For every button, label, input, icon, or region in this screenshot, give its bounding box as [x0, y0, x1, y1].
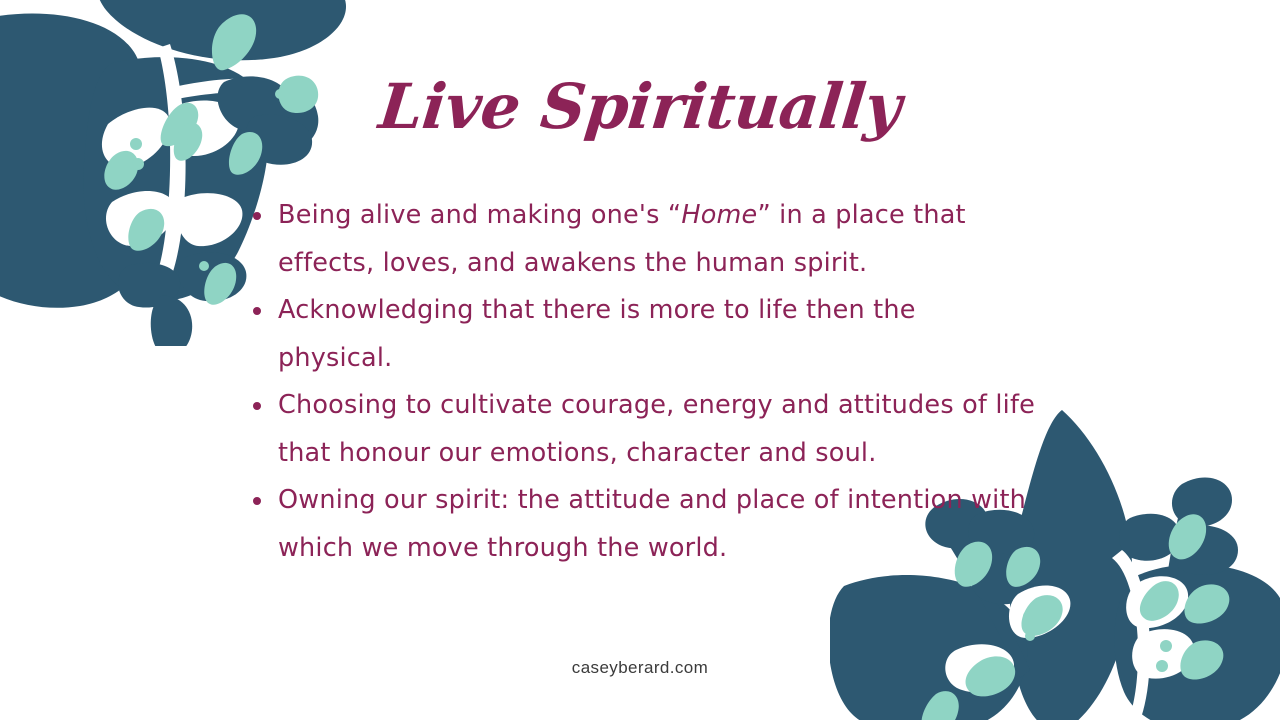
list-item: Choosing to cultivate courage, energy an… [248, 382, 1038, 477]
bullet-dot-icon [253, 212, 261, 220]
bullet-text: Acknowledging that there is more to life… [278, 295, 916, 373]
list-item: Being alive and making one's “Home” in a… [248, 192, 1038, 287]
bullet-text: Choosing to cultivate courage, energy an… [278, 390, 1035, 468]
bullet-text-pre: Acknowledging that there is more to life… [278, 295, 916, 373]
bullet-dot-icon [253, 497, 261, 505]
bullet-text: Owning our spirit: the attitude and plac… [278, 485, 1026, 563]
bullet-text-pre: Choosing to cultivate courage, energy an… [278, 390, 1035, 468]
bullet-text-pre: Owning our spirit: the attitude and plac… [278, 485, 1026, 563]
footer-website-url: caseyberard.com [0, 658, 1280, 678]
bullet-text-emphasis: Home [681, 200, 757, 230]
slide-canvas: Live Spiritually Being alive and making … [0, 0, 1280, 720]
bullet-list: Being alive and making one's “Home” in a… [248, 192, 1038, 572]
list-item: Acknowledging that there is more to life… [248, 287, 1038, 382]
bullet-dot-icon [253, 307, 261, 315]
bullet-text: Being alive and making one's “Home” in a… [278, 200, 966, 278]
slide-title: Live Spiritually [0, 76, 1280, 138]
bullet-dot-icon [253, 402, 261, 410]
list-item: Owning our spirit: the attitude and plac… [248, 477, 1038, 572]
bullet-text-pre: Being alive and making one's “ [278, 200, 681, 230]
